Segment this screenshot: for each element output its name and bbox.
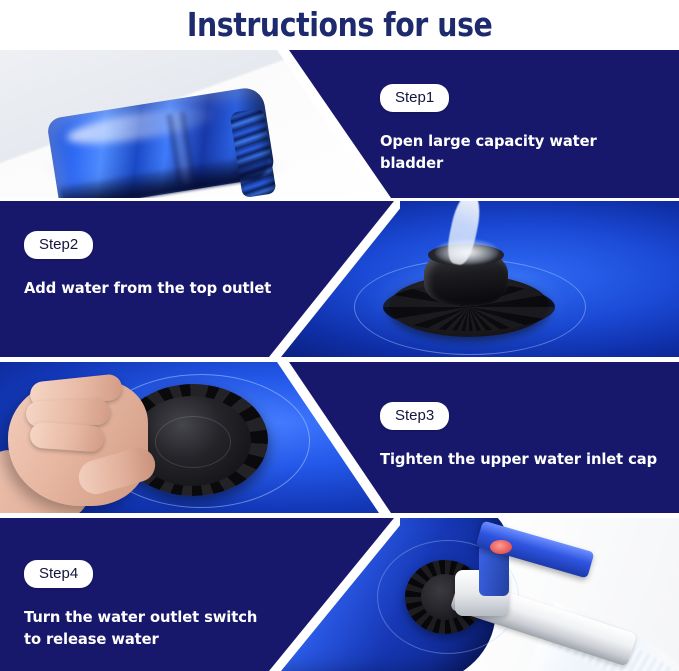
step-1-caption: Open large capacity water bladder xyxy=(380,130,664,175)
step-2-caption: Add water from the top outlet xyxy=(24,277,271,299)
step-row-3: Step3 Tighten the upper water inlet cap xyxy=(0,362,679,513)
step-2-text-block: Step2 Add water from the top outlet xyxy=(24,231,284,299)
step-4-badge: Step4 xyxy=(24,560,93,588)
step-3-text-block: Step3 Tighten the upper water inlet cap xyxy=(380,402,672,470)
step-3-badge: Step3 xyxy=(380,402,449,430)
page-title: Instructions for use xyxy=(187,5,492,44)
step-row-2: Step2 Add water from the top outlet xyxy=(0,201,679,357)
instructions-infographic: Instructions for use Step1 Open large ca… xyxy=(0,0,679,671)
step-2-badge: Step2 xyxy=(24,231,93,259)
step-4-caption: Turn the water outlet switch to release … xyxy=(24,606,257,651)
valve-lever-cap-dot xyxy=(490,540,512,554)
step-1-badge: Step1 xyxy=(380,84,449,112)
step-1-text-block: Step1 Open large capacity water bladder xyxy=(380,84,679,175)
hand-finger xyxy=(29,421,105,452)
step-row-1: Step1 Open large capacity water bladder xyxy=(0,50,679,198)
step-row-4: Step4 Turn the water outlet switch to re… xyxy=(0,518,679,671)
step-3-caption: Tighten the upper water inlet cap xyxy=(380,448,657,470)
step-4-text-block: Step4 Turn the water outlet switch to re… xyxy=(24,560,270,651)
page-title-bar: Instructions for use xyxy=(0,0,679,48)
